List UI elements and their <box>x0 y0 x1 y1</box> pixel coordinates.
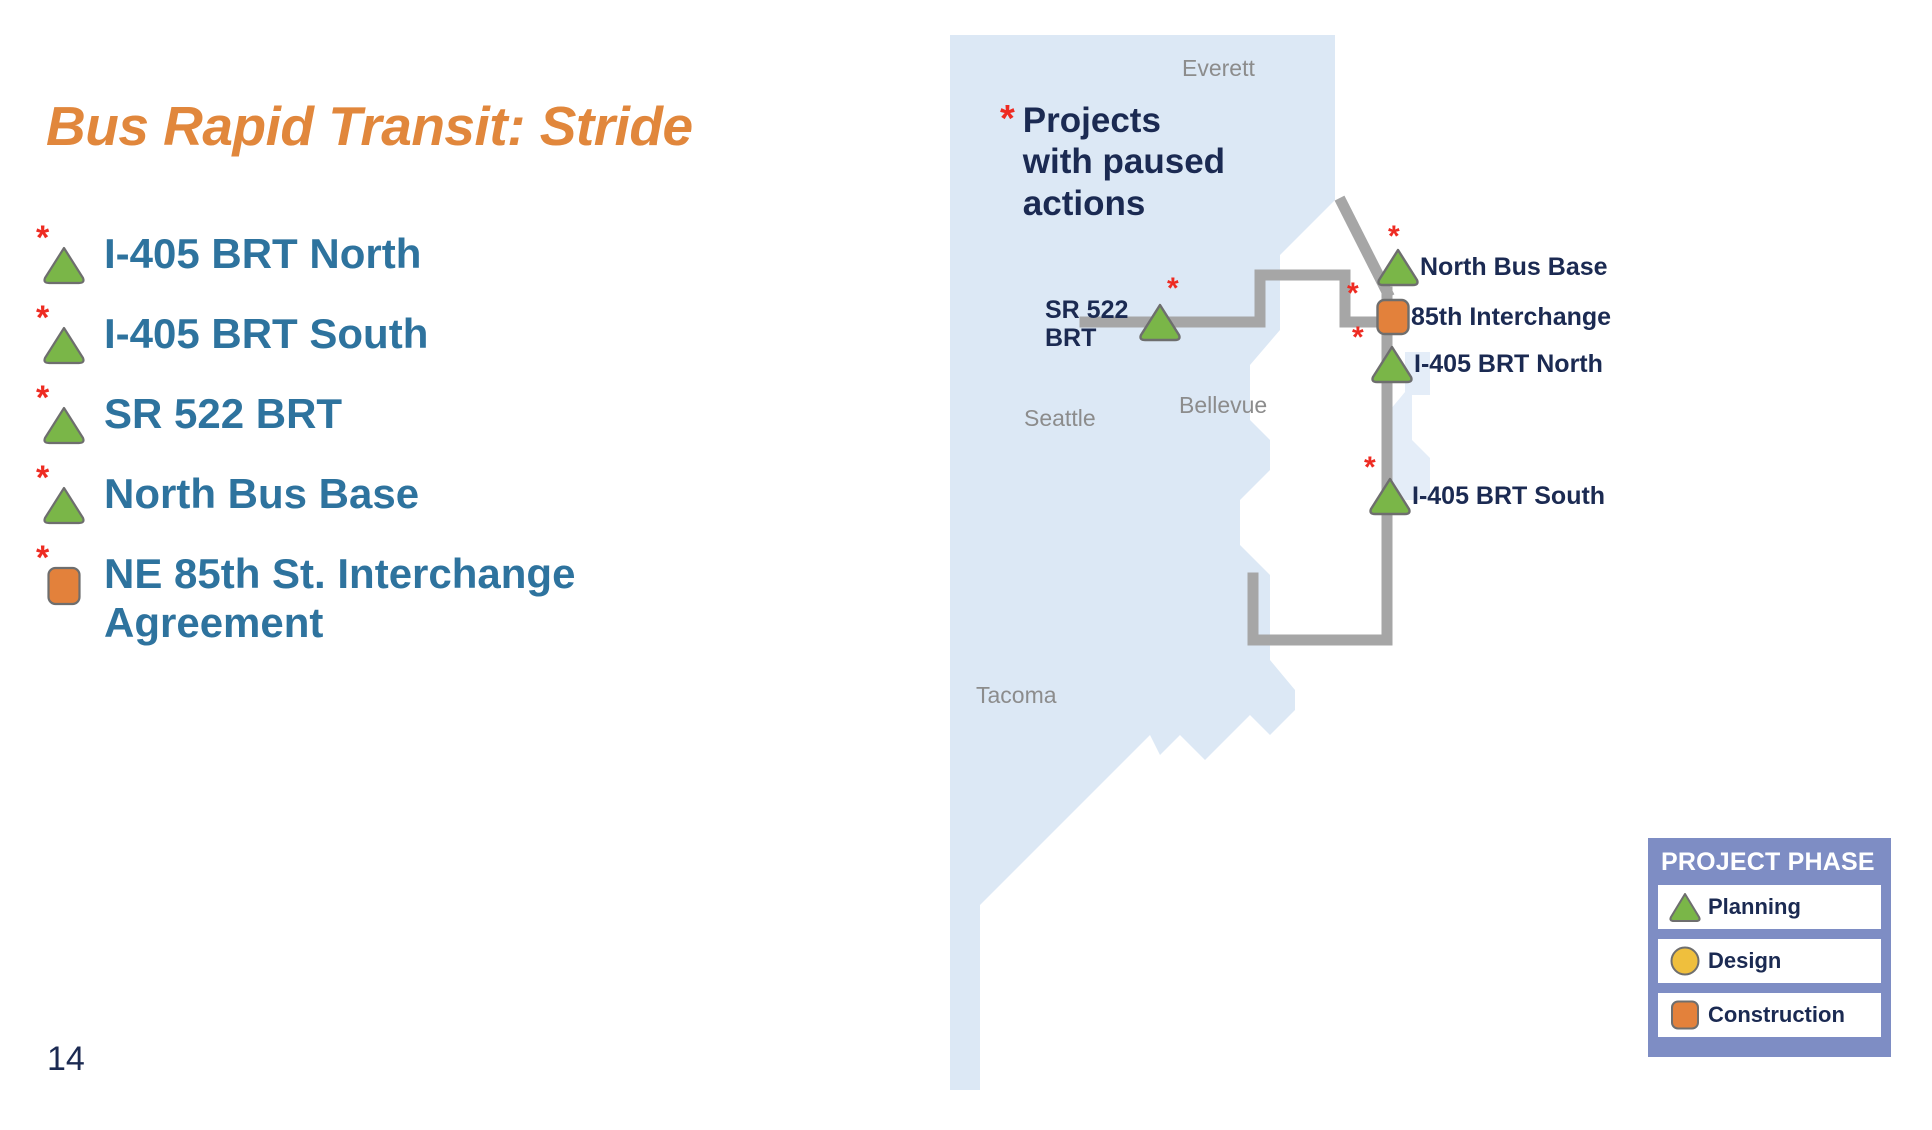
list-item[interactable]: * NE 85th St. Interchange Agreement <box>30 547 710 647</box>
list-item-marker: * <box>30 467 104 531</box>
paused-asterisk-icon: * <box>1352 323 1364 353</box>
map-marker-label: 85th Interchange <box>1411 303 1611 331</box>
triangle-icon <box>42 405 86 445</box>
city-label-bellevue: Bellevue <box>1179 392 1267 419</box>
paused-projects-note-text: Projects with paused actions <box>1023 100 1230 224</box>
triangle-icon <box>42 485 86 525</box>
list-item[interactable]: * I-405 BRT South <box>30 307 830 379</box>
legend-item-label: Construction <box>1708 1002 1845 1028</box>
map-marker-85th-interchange[interactable]: * 85th Interchange <box>1375 297 1611 337</box>
paused-asterisk-icon: * <box>1000 100 1015 138</box>
paused-projects-note: * Projects with paused actions <box>1000 100 1230 224</box>
map-marker-sr-522-brt[interactable]: * SR 522 BRT <box>1045 296 1141 352</box>
triangle-icon <box>1138 301 1182 343</box>
list-item-marker: * <box>30 307 104 371</box>
map-marker-label: I-405 BRT South <box>1412 482 1605 510</box>
rounded-square-icon <box>46 565 82 607</box>
map-marker-label: SR 522 BRT <box>1045 296 1141 352</box>
triangle-icon <box>1666 891 1704 923</box>
city-label-everett: Everett <box>1182 55 1255 82</box>
legend-item-construction[interactable]: Construction <box>1658 993 1881 1037</box>
triangle-icon <box>1370 343 1414 385</box>
rounded-square-icon <box>1375 297 1411 337</box>
list-item-label: NE 85th St. Interchange Agreement <box>104 547 704 647</box>
legend-item-planning[interactable]: Planning <box>1658 885 1881 929</box>
rounded-square-icon <box>1666 999 1704 1031</box>
paused-asterisk-icon: * <box>1364 453 1376 483</box>
legend-title: PROJECT PHASE <box>1648 838 1891 885</box>
city-label-tacoma: Tacoma <box>976 682 1057 709</box>
legend-item-label: Planning <box>1708 894 1801 920</box>
page-title: Bus Rapid Transit: Stride <box>46 94 693 158</box>
legend-project-phase: PROJECT PHASE Planning Design Constructi… <box>1648 838 1891 1057</box>
list-item-marker: * <box>30 387 104 451</box>
city-label-seattle: Seattle <box>1024 405 1096 432</box>
circle-icon <box>1666 945 1704 977</box>
list-item[interactable]: * North Bus Base <box>30 467 830 539</box>
project-list: * I-405 BRT North * I-405 BRT South * <box>30 227 830 655</box>
map-marker-label: North Bus Base <box>1420 253 1608 281</box>
paused-asterisk-icon: * <box>1347 279 1359 309</box>
list-item-label: I-405 BRT North <box>104 227 421 278</box>
paused-asterisk-icon: * <box>1388 222 1400 252</box>
list-item[interactable]: * I-405 BRT North <box>30 227 830 299</box>
list-item-marker: * <box>30 547 104 611</box>
triangle-icon <box>42 325 86 365</box>
legend-item-design[interactable]: Design <box>1658 939 1881 983</box>
map-marker-i405-brt-south[interactable]: * I-405 BRT South <box>1368 475 1605 517</box>
list-item-marker: * <box>30 227 104 291</box>
map-marker-i405-brt-north[interactable]: * I-405 BRT North <box>1370 343 1603 385</box>
legend-item-label: Design <box>1708 948 1781 974</box>
triangle-icon <box>42 245 86 285</box>
paused-asterisk-icon: * <box>1167 274 1179 304</box>
list-item-label: SR 522 BRT <box>104 387 342 438</box>
map-marker-label: I-405 BRT North <box>1414 350 1603 378</box>
map-marker-north-bus-base[interactable]: * North Bus Base <box>1376 246 1608 288</box>
left-content-panel: Bus Rapid Transit: Stride * I-405 BRT No… <box>0 0 950 1130</box>
list-item-label: I-405 BRT South <box>104 307 428 358</box>
list-item-label: North Bus Base <box>104 467 419 518</box>
list-item[interactable]: * SR 522 BRT <box>30 387 830 459</box>
page-number: 14 <box>47 1040 85 1079</box>
